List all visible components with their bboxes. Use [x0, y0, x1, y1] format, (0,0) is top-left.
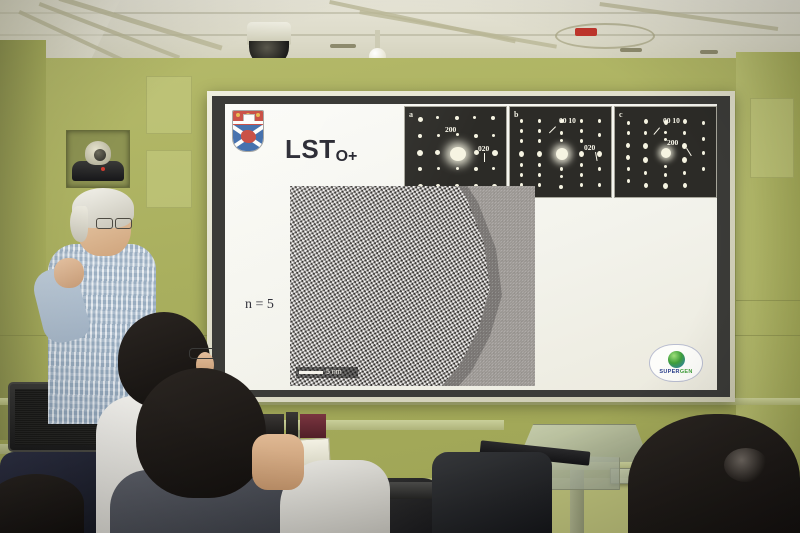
presentation-slide: LSTO+ n = 5 a [225, 104, 717, 390]
diffraction-b-annotation-0010: 00 10 [559, 116, 576, 125]
acoustic-wall-panel [146, 76, 192, 134]
diffraction-panel-c: c [614, 106, 717, 198]
diffraction-c-annotation-200: 200 [667, 138, 678, 147]
camera-led-icon [101, 167, 105, 171]
acoustic-wall-panel [750, 98, 794, 178]
dome-camera-icon [247, 22, 291, 45]
camera-niche [66, 130, 130, 188]
audience-3-highlight [724, 448, 768, 482]
diffraction-b-annotation-020: 020 [584, 143, 595, 152]
diffraction-a-annotation-200: 200 [445, 125, 456, 134]
n-value-label: n = 5 [245, 297, 274, 313]
diffraction-panel-a-label: a [409, 110, 413, 119]
scale-bar-line [299, 371, 323, 374]
scale-bar-label: 5 nm [326, 369, 342, 376]
diffraction-a-annotation-020: 020 [478, 144, 489, 153]
left-wall [0, 40, 46, 440]
ceiling-vent [555, 23, 655, 49]
chair-back [432, 452, 552, 533]
supergen-text-part1: SUPER [659, 369, 679, 375]
supergen-logo: SUPERGEN [649, 344, 703, 382]
university-crest-icon [232, 110, 262, 150]
lecture-room-photo: LSTO+ n = 5 a [0, 0, 800, 533]
slide-title-main: LST [285, 134, 336, 164]
camera-head-icon [85, 141, 111, 165]
ceiling-sensor-icon [375, 30, 380, 50]
diffraction-panel-c-label: c [619, 110, 623, 119]
diffraction-c-annotation-0010: 00 10 [663, 116, 680, 125]
glasses-icon [96, 218, 132, 228]
camera-lens-icon [94, 149, 106, 161]
red-case [300, 414, 326, 438]
globe-icon [668, 351, 685, 368]
hrtem-micrograph: 5 nm [290, 186, 535, 386]
audience-4-head [0, 474, 84, 533]
red-indicator-light [575, 28, 597, 36]
slide-title: LSTO+ [285, 134, 357, 166]
acoustic-wall-panel [146, 150, 192, 208]
diffraction-panel-b: b [509, 106, 612, 198]
slide-title-subscript: O+ [336, 148, 358, 165]
diffraction-panel-a: a [404, 106, 507, 198]
audience-2-head [136, 368, 266, 498]
diffraction-panel-row: a [404, 106, 717, 198]
diffraction-panel-b-label: b [514, 110, 518, 119]
scale-bar: 5 nm [296, 367, 358, 378]
audience-2-neck [252, 434, 304, 490]
audience-1-glasses-icon [189, 348, 217, 359]
supergen-text-part2: GEN [680, 369, 693, 375]
